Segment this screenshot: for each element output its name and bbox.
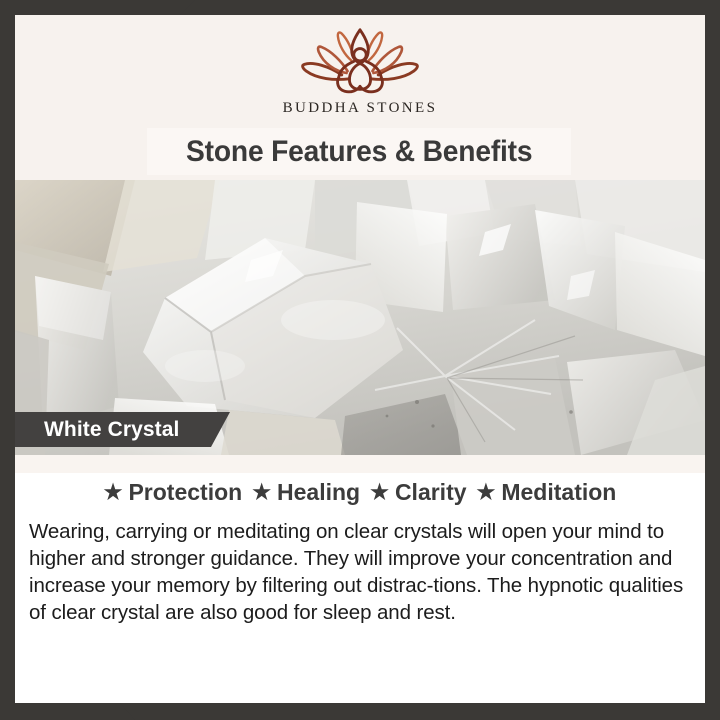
frame-bottom-edge xyxy=(0,703,720,720)
poster-card: BUDDHA STONES Stone Features & Benefits xyxy=(0,0,720,720)
description-text: Wearing, carrying or meditating on clear… xyxy=(29,518,691,626)
photo-caption-label: White Crystal xyxy=(44,418,180,442)
lotus-meditation-icon xyxy=(285,25,435,97)
star-icon: ★ xyxy=(104,482,123,503)
benefit-label: Protection xyxy=(128,479,242,506)
benefit-item-meditation: ★ Meditation xyxy=(477,479,617,506)
benefit-item-protection: ★ Protection xyxy=(104,479,243,506)
divider-strip xyxy=(15,455,705,473)
benefits-list: ★ Protection ★ Healing ★ Clarity ★ Medit… xyxy=(15,479,705,506)
brand-name: BUDDHA STONES xyxy=(283,100,438,117)
page-title: Stone Features & Benefits xyxy=(186,135,532,169)
frame-left-edge xyxy=(0,0,15,720)
title-banner: Stone Features & Benefits xyxy=(147,128,571,175)
content-section: ★ Protection ★ Healing ★ Clarity ★ Medit… xyxy=(15,473,705,703)
header-section: BUDDHA STONES Stone Features & Benefits xyxy=(15,15,705,180)
benefit-label: Clarity xyxy=(395,479,467,506)
benefit-item-healing: ★ Healing xyxy=(252,479,360,506)
frame-right-edge xyxy=(705,0,720,720)
benefit-label: Meditation xyxy=(501,479,616,506)
photo-caption-ribbon: White Crystal xyxy=(15,412,230,447)
star-icon: ★ xyxy=(370,482,389,503)
page-body: BUDDHA STONES Stone Features & Benefits xyxy=(15,15,705,703)
star-icon: ★ xyxy=(252,482,271,503)
benefit-item-clarity: ★ Clarity xyxy=(370,479,466,506)
brand-logo: BUDDHA STONES xyxy=(15,25,705,117)
frame-top-edge xyxy=(0,0,720,15)
benefit-label: Healing xyxy=(277,479,360,506)
star-icon: ★ xyxy=(477,482,496,503)
